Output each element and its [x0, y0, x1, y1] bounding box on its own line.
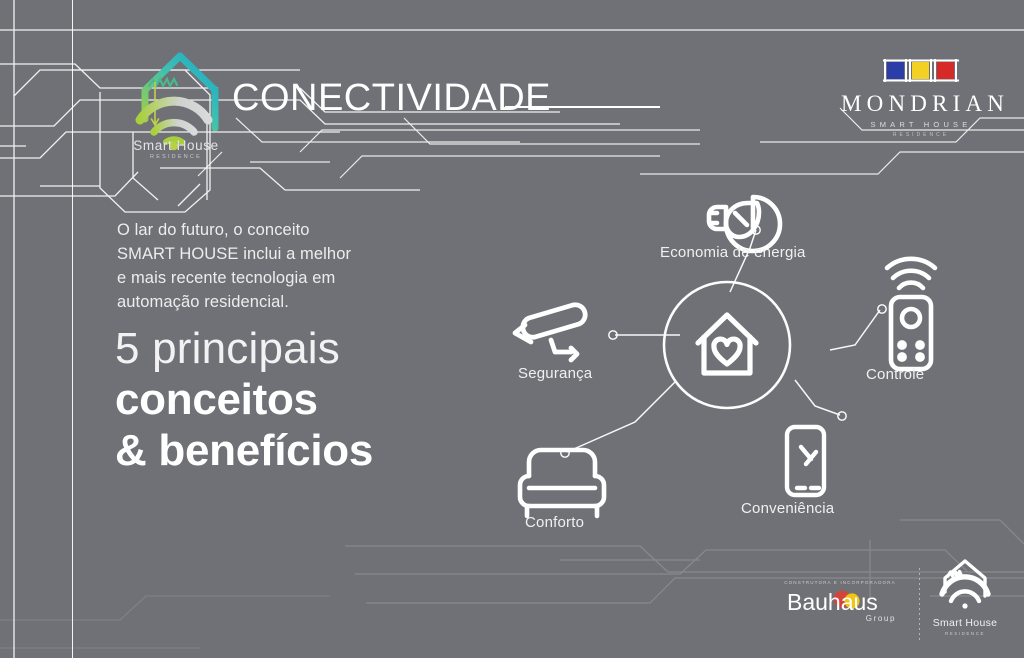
diagram-label-conforto: Conforto: [525, 514, 584, 531]
footer-smart-house-logo: Smart House RESIDENCE: [928, 556, 1002, 636]
remote-control-icon: [887, 259, 935, 369]
mondrian-logo-subtitle: SMART HOUSE: [841, 120, 1001, 129]
headline-block: 5 principais conceitos & benefícios: [115, 325, 535, 475]
diagram-label-controle: Controle: [866, 366, 924, 383]
cctv-camera-icon: [515, 305, 585, 360]
poster-canvas: Smart House RESIDENCE CONECTIVIDADE MOND…: [0, 0, 1024, 670]
house-heart-icon: [698, 315, 756, 373]
diagram-label-seguranca: Segurança: [518, 365, 592, 382]
footer-smart-house-subtitle: RESIDENCE: [928, 631, 1002, 636]
intro-line-1: O lar do futuro, o conceito: [117, 219, 437, 243]
leaf-plug-icon: [709, 197, 780, 251]
bottom-white-strip: [0, 658, 1024, 670]
armchair-icon: [520, 450, 604, 516]
mondrian-logo-subtitle-2: RESIDENCE: [841, 132, 1001, 138]
diagram-label-conveniencia: Conveniência: [741, 500, 834, 517]
intro-line-4: automação residencial.: [117, 291, 437, 315]
intro-paragraph: O lar do futuro, o conceito SMART HOUSE …: [117, 219, 437, 315]
headline-line-1: 5 principais: [115, 325, 535, 373]
footer-smart-house-name: Smart House: [928, 617, 1002, 629]
mondrian-logo-name: MONDRIAN: [841, 92, 1001, 115]
page-title: CONECTIVIDADE: [232, 79, 551, 117]
smart-house-logo-name: Smart House: [112, 138, 240, 153]
benefits-hub-diagram: [495, 170, 1015, 550]
left-vertical-divider: [72, 0, 73, 670]
title-underline-rule: [505, 106, 660, 108]
smart-house-wifi-roof-icon: [933, 556, 997, 616]
mondrian-logo: MONDRIAN SMART HOUSE RESIDENCE: [841, 56, 1001, 138]
mondrian-swatches-icon: [883, 56, 959, 86]
footer-divider: [919, 568, 920, 642]
bauhaus-tagline: CONSTRUTORA E INCORPORADORA: [780, 580, 900, 585]
intro-line-2: SMART HOUSE inclui a melhor: [117, 243, 437, 267]
headline-line-2: conceitos: [115, 375, 535, 424]
smart-house-logo-subtitle: RESIDENCE: [112, 154, 240, 160]
headline-line-3: & benefícios: [115, 426, 535, 475]
bauhaus-group-label: Group: [780, 614, 900, 623]
bauhaus-wordmark: Bauhaus: [785, 586, 895, 616]
smartphone-icon: [787, 427, 824, 495]
svg-text:Bauhaus: Bauhaus: [787, 589, 878, 615]
bauhaus-group-logo: CONSTRUTORA E INCORPORADORA Bauhaus Grou…: [780, 580, 900, 623]
diagram-label-economia-de-energia: Economia de energia: [660, 244, 806, 261]
intro-line-3: e mais recente tecnologia em: [117, 267, 437, 291]
